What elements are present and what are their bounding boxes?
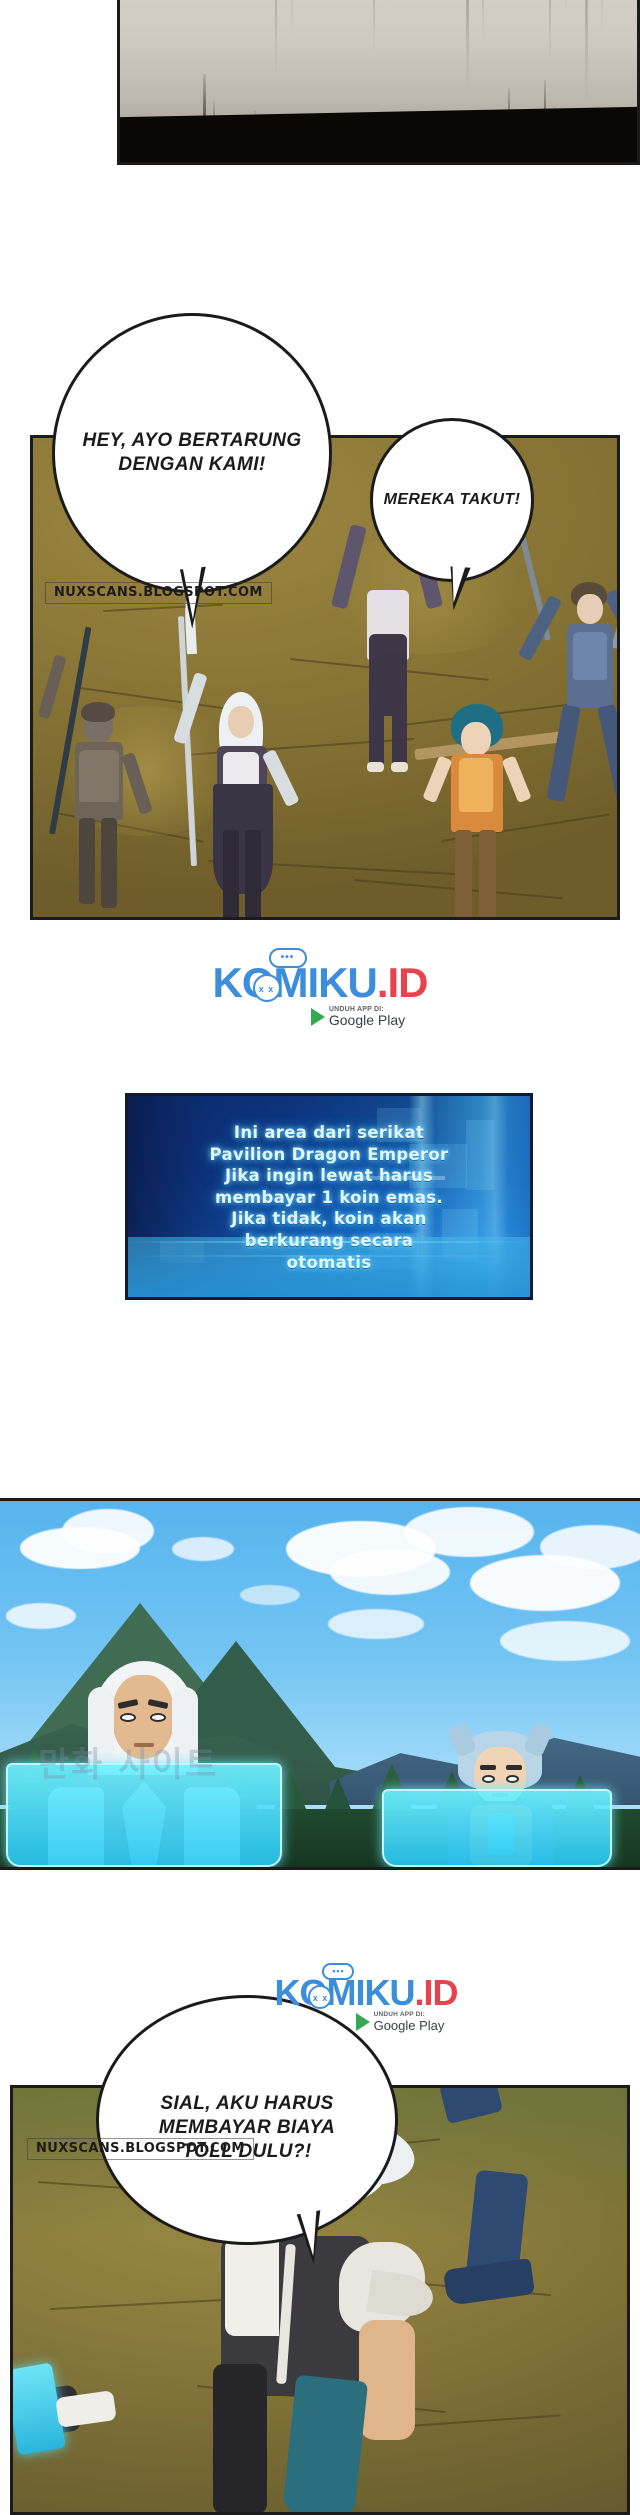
cloud bbox=[540, 1525, 640, 1569]
store-name: Google Play bbox=[329, 1013, 405, 1028]
mountain-landscape-panel: 만화 사이트 bbox=[0, 1498, 640, 1870]
komiku-word-red: ID bbox=[388, 959, 428, 1006]
komiku-wordmark: KOMIKU.ID x x ••• bbox=[213, 962, 428, 1004]
store-name: Google Play bbox=[374, 2019, 445, 2033]
system-message-panel: Ini area dari serikat Pavilion Dragon Em… bbox=[125, 1093, 533, 1300]
komiku-mascot-bubble-icon: ••• bbox=[322, 1963, 354, 1980]
swordsman-sash bbox=[282, 2375, 368, 2515]
scanlator-watermark: NUXSCANS.BLOGSPOT.COM bbox=[27, 2138, 254, 2160]
youth-eyebrow-right bbox=[506, 1765, 522, 1770]
youth-eye-left bbox=[482, 1775, 495, 1783]
swordsman-sleeve bbox=[213, 2364, 267, 2514]
cloud bbox=[328, 1609, 424, 1639]
warrior-left bbox=[41, 650, 151, 920]
system-line-4: membayar 1 koin emas. bbox=[142, 1187, 516, 1209]
swordsman-shoulder-white bbox=[225, 2236, 279, 2336]
speech-bubble-primary: HEY, AYO BERTARUNG DENGAN KAMI! bbox=[52, 313, 332, 593]
warrior-blue-hair bbox=[421, 696, 551, 920]
cloud bbox=[62, 1509, 154, 1553]
speech-bubble-secondary: MEREKA TAKUT! bbox=[370, 418, 534, 582]
komiku-mascot-bubble-dots: ••• bbox=[281, 953, 295, 963]
scanlator-watermark: NUXSCANS.BLOGSPOT.COM bbox=[45, 582, 272, 604]
komiku-branding-top[interactable]: KOMIKU.ID x x ••• UNDUH APP DI: Google P… bbox=[150, 962, 490, 1028]
google-play-badge[interactable]: UNDUH APP DI: Google Play bbox=[188, 1006, 528, 1028]
komiku-wordmark: KOMIKU.ID x x ••• bbox=[274, 1975, 457, 2011]
komiku-dot: . bbox=[377, 959, 388, 1006]
system-line-6: berkurang secara bbox=[142, 1230, 516, 1252]
komiku-mascot-bubble-dots: ••• bbox=[332, 1967, 344, 1976]
speech-bubble-closing: SIAL, AKU HARUS MEMBAYAR BIAYA TOLL DULU… bbox=[96, 1995, 398, 2245]
google-play-badge[interactable]: UNDUH APP DI: Google Play bbox=[250, 2012, 550, 2032]
komiku-mascot-bubble-icon: ••• bbox=[269, 948, 307, 968]
system-line-2: Pavilion Dragon Emperor bbox=[142, 1144, 516, 1166]
cloud bbox=[330, 1549, 450, 1595]
komiku-mascot-eyes: x x bbox=[313, 1994, 329, 2003]
elder-eye-left bbox=[120, 1713, 136, 1722]
blur-floor-band bbox=[117, 106, 640, 165]
komiku-dot: . bbox=[414, 1972, 423, 2013]
system-line-3: Jika ingin lewat harus bbox=[142, 1165, 516, 1187]
bubble-tail-fill bbox=[450, 563, 467, 604]
komiku-branding-bottom[interactable]: KOMIKU.ID x x ••• UNDUH APP DI: Google P… bbox=[216, 1975, 516, 2032]
system-line-7: otomatis bbox=[142, 1252, 516, 1274]
motion-blur-panel bbox=[117, 0, 640, 165]
cloud bbox=[240, 1585, 300, 1605]
cloud bbox=[500, 1621, 630, 1661]
google-play-icon bbox=[356, 2013, 370, 2031]
cloud bbox=[172, 1537, 234, 1561]
warrior-white-armor bbox=[173, 634, 293, 920]
energy-shield-right bbox=[382, 1789, 612, 1867]
google-play-text: UNDUH APP DI: Google Play bbox=[374, 2012, 445, 2032]
cloud bbox=[404, 1507, 534, 1557]
warrior-right-jumping bbox=[541, 546, 620, 826]
system-line-1: Ini area dari serikat bbox=[142, 1122, 516, 1144]
bubble-1-text: HEY, AYO BERTARUNG DENGAN KAMI! bbox=[64, 429, 319, 478]
elder-eye-right bbox=[150, 1713, 166, 1722]
system-line-5: Jika tidak, koin akan bbox=[142, 1208, 516, 1230]
google-play-text: UNDUH APP DI: Google Play bbox=[329, 1006, 405, 1028]
komiku-mascot-face-icon: x x bbox=[253, 974, 281, 1002]
youth-eyebrow-left bbox=[480, 1765, 496, 1770]
comic-reader-page: NUXSCANS.BLOGSPOT.COM HEY, AYO BERTARUNG… bbox=[0, 0, 640, 2500]
swordsman-arm bbox=[359, 2320, 415, 2440]
google-play-icon bbox=[311, 1008, 325, 1026]
system-message-text: Ini area dari serikat Pavilion Dragon Em… bbox=[128, 1122, 530, 1273]
komiku-mascot-eyes: x x bbox=[259, 985, 275, 994]
overlay-watermark: 만화 사이트 bbox=[38, 1737, 218, 1786]
bubble-2-text: MEREKA TAKUT! bbox=[384, 490, 521, 510]
swordsman-pauldron-wing bbox=[366, 2270, 435, 2320]
youth-eye-right bbox=[506, 1775, 519, 1783]
komiku-word-red: ID bbox=[424, 1972, 458, 2013]
